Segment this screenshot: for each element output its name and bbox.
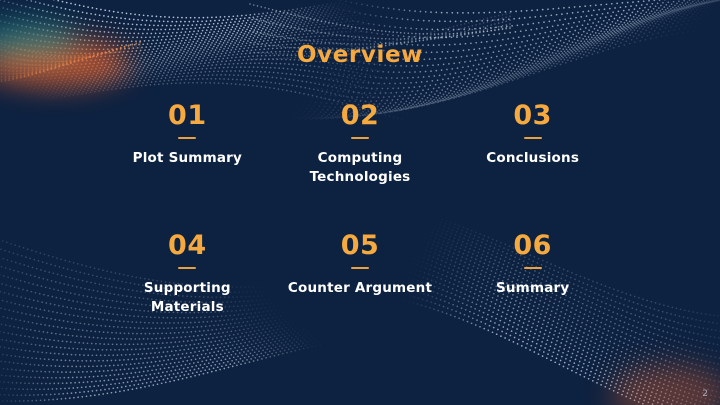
item-divider	[524, 137, 542, 139]
item-label: Counter Argument	[283, 279, 438, 297]
item-label: Computing Technologies	[283, 149, 438, 185]
overview-item-02[interactable]: 02 Computing Technologies	[283, 98, 438, 228]
item-label: Supporting Materials	[110, 279, 265, 315]
item-number: 03	[455, 102, 610, 130]
slide-content: Overview 01 Plot Summary 02 Computing Te…	[0, 0, 720, 405]
item-divider	[178, 267, 196, 269]
item-divider	[524, 267, 542, 269]
item-number: 06	[455, 232, 610, 260]
overview-item-01[interactable]: 01 Plot Summary	[110, 98, 265, 228]
item-label: Conclusions	[455, 149, 610, 167]
item-number: 01	[110, 102, 265, 130]
item-divider	[178, 137, 196, 139]
item-number: 05	[283, 232, 438, 260]
item-label: Plot Summary	[110, 149, 265, 167]
item-number: 04	[110, 232, 265, 260]
overview-item-06[interactable]: 06 Summary	[455, 228, 610, 358]
page-number: 2	[702, 389, 708, 399]
overview-items-grid: 01 Plot Summary 02 Computing Technologie…	[110, 98, 610, 358]
page-title: Overview	[0, 42, 720, 68]
item-label: Summary	[455, 279, 610, 297]
slide-canvas: Overview 01 Plot Summary 02 Computing Te…	[0, 0, 720, 405]
item-number: 02	[283, 102, 438, 130]
overview-item-04[interactable]: 04 Supporting Materials	[110, 228, 265, 358]
overview-item-03[interactable]: 03 Conclusions	[455, 98, 610, 228]
item-divider	[351, 267, 369, 269]
overview-item-05[interactable]: 05 Counter Argument	[283, 228, 438, 358]
item-divider	[351, 137, 369, 139]
